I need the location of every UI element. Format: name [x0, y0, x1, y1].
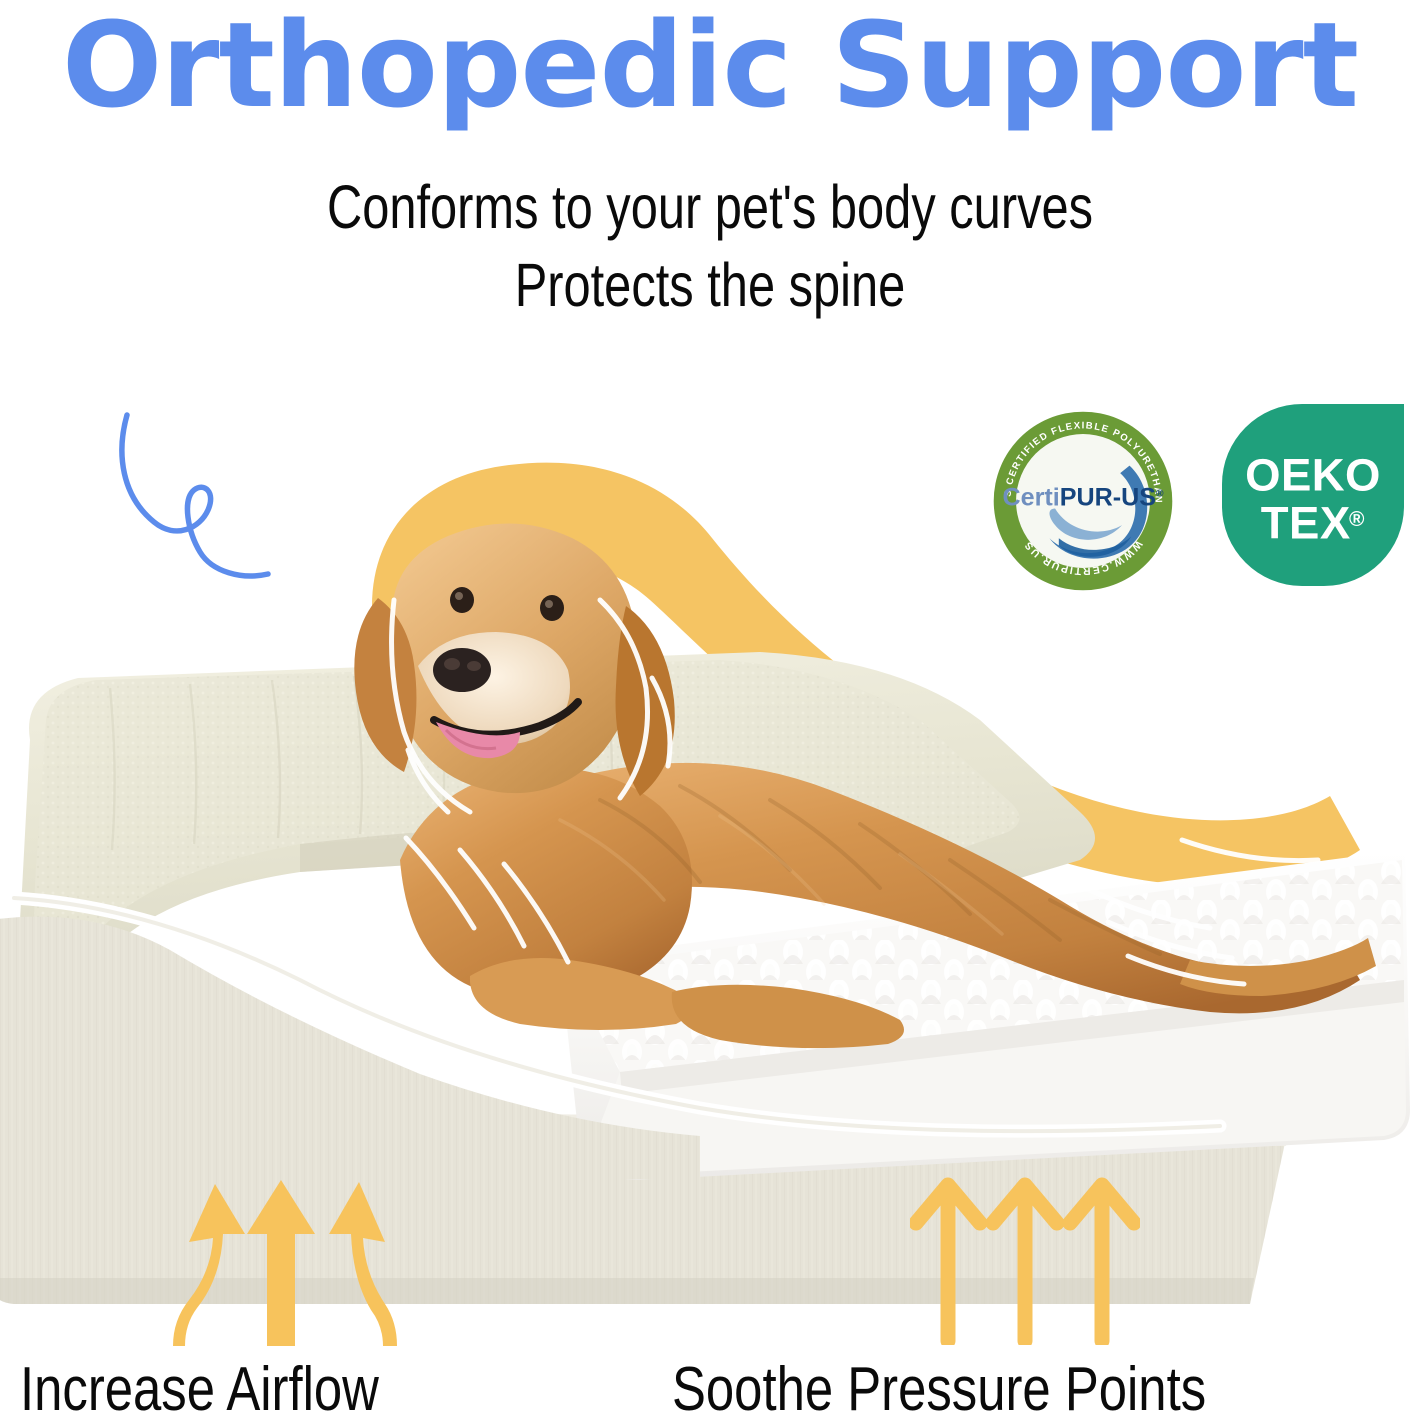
pressure-relief-arrows — [910, 1165, 1140, 1345]
caption-soothe-pressure-points: Soothe Pressure Points — [672, 1357, 1206, 1422]
caption-increase-airflow: Increase Airflow — [20, 1357, 379, 1422]
page-title: Orthopedic Support — [0, 6, 1420, 124]
subtitle-block: Conforms to your pet's body curves Prote… — [0, 168, 1420, 324]
airflow-arrows — [155, 1150, 415, 1350]
subtitle-line-2: Protects the spine — [142, 246, 1278, 324]
product-feature-infographic: Orthopedic Support Conforms to your pet'… — [0, 0, 1420, 1426]
subtitle-line-1: Conforms to your pet's body curves — [142, 168, 1278, 246]
